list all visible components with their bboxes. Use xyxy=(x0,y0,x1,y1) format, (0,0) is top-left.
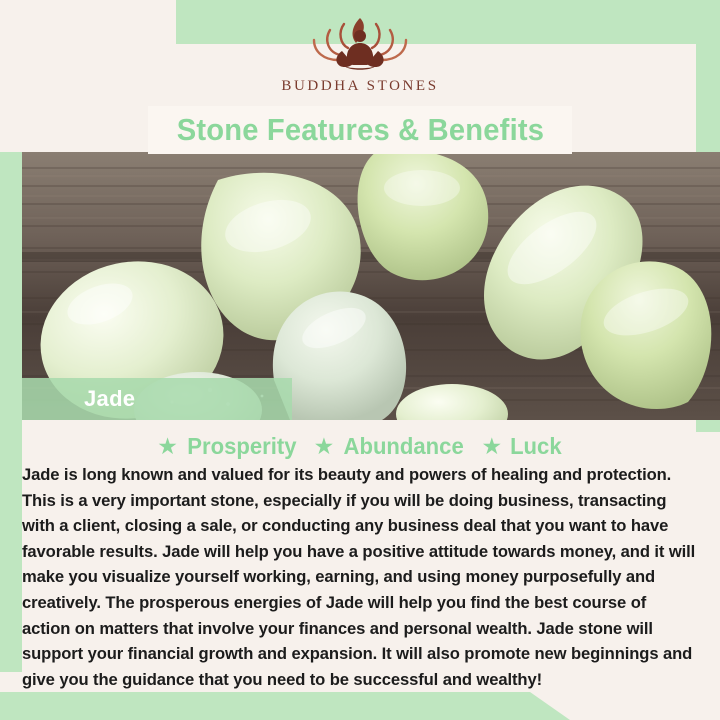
benefit-label: Abundance xyxy=(344,433,464,460)
title-banner: Stone Features & Benefits xyxy=(148,106,572,154)
infographic-page: BUDDHA STONES Stone Features & Benefits xyxy=(0,0,720,720)
page-title: Stone Features & Benefits xyxy=(176,112,543,148)
decorative-frame-bottom xyxy=(0,692,570,720)
benefit-label: Prosperity xyxy=(187,433,296,460)
star-icon: ★ xyxy=(314,435,335,458)
benefit-item: ★ Abundance xyxy=(314,433,467,460)
benefits-row: ★ Prosperity ★ Abundance ★ Luck xyxy=(22,430,698,462)
lotus-meditation-icon xyxy=(296,10,424,76)
stone-description: Jade is long known and valued for its be… xyxy=(22,462,696,692)
decorative-frame-left xyxy=(0,152,22,672)
star-icon: ★ xyxy=(157,435,178,458)
brand-name: BUDDHA STONES xyxy=(281,78,438,95)
stone-name-caption: Jade xyxy=(22,378,292,420)
benefit-label: Luck xyxy=(510,433,562,460)
benefit-item: ★ Prosperity xyxy=(157,433,298,460)
brand-header: BUDDHA STONES xyxy=(0,0,720,112)
star-icon: ★ xyxy=(481,435,502,458)
stone-name: Jade xyxy=(22,386,135,412)
benefit-item: ★ Luck xyxy=(481,433,562,460)
